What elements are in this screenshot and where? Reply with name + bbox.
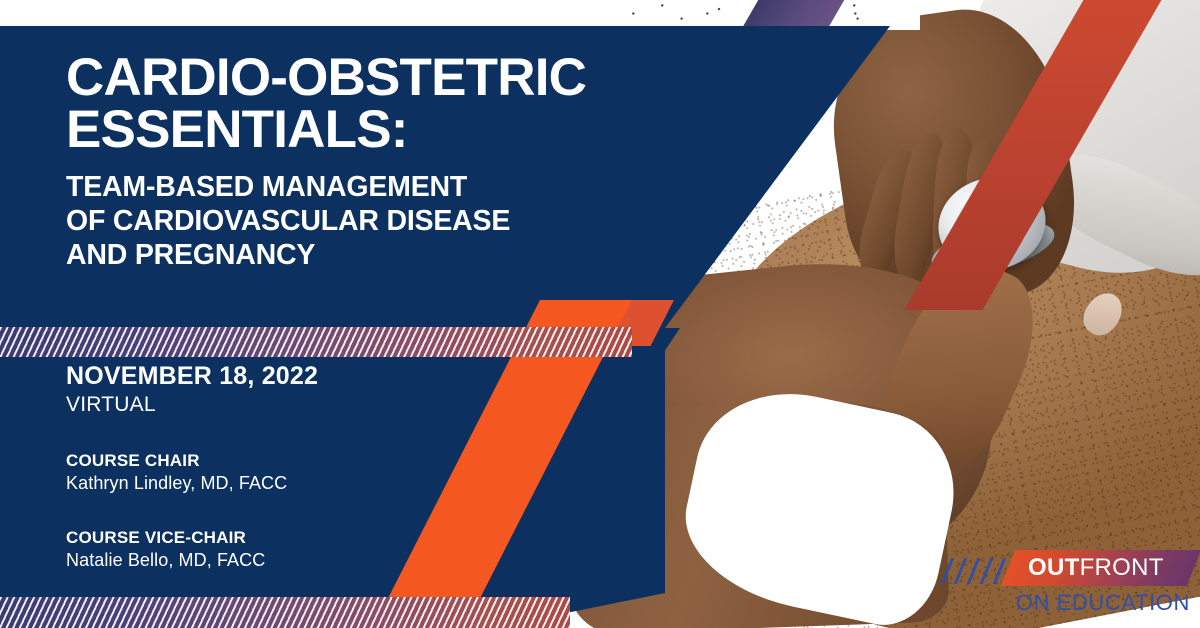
event-promo-poster: CARDIO-OBSTETRIC ESSENTIALS: TEAM-BASED … [0,0,1200,628]
course-chair-name: Kathryn Lindley, MD, FACC [66,473,318,494]
logo-tagline: ON EDUCATION [1016,590,1190,616]
page-subtitle: TEAM-BASED MANAGEMENT OF CARDIOVASCULAR … [66,170,686,273]
outfront-on-education-logo: OUTFRONT ON EDUCATION [932,546,1194,618]
event-format: VIRTUAL [66,393,318,417]
course-vice-chair-label: COURSE VICE-CHAIR [66,528,318,548]
headline-block: CARDIO-OBSTETRIC ESSENTIALS: TEAM-BASED … [66,52,686,272]
logo-word-bold: OUT [1028,554,1080,581]
title-line-2: ESSENTIALS: [66,104,686,156]
logo-word-light: FRONT [1080,554,1164,581]
event-details-block: NOVEMBER 18, 2022 VIRTUAL COURSE CHAIR K… [66,362,318,571]
page-title: CARDIO-OBSTETRIC ESSENTIALS: [66,52,686,156]
logo-wordmark: OUTFRONT [1028,555,1198,581]
title-line-1: CARDIO-OBSTETRIC [66,48,586,107]
event-date: NOVEMBER 18, 2022 [66,362,318,391]
subtitle-line-2: OF CARDIOVASCULAR DISEASE [66,204,686,238]
subtitle-line-1: TEAM-BASED MANAGEMENT [66,170,686,204]
course-vice-chair-name: Natalie Bello, MD, FACC [66,550,318,571]
striped-divider-top [0,327,632,357]
subtitle-line-3: AND PREGNANCY [66,238,686,272]
course-chair-label: COURSE CHAIR [66,451,318,471]
striped-divider-bottom [0,597,570,628]
